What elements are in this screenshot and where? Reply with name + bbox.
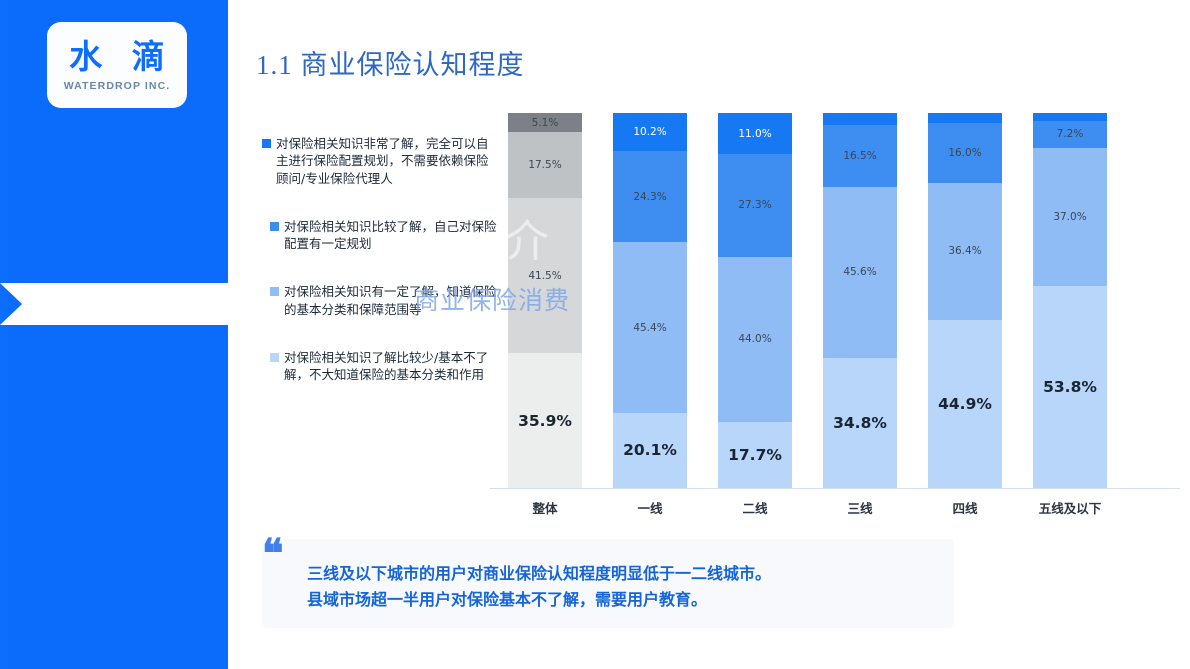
- bar-segment-value: 16.0%: [948, 147, 981, 159]
- bar-segment[interactable]: 16.0%: [928, 123, 1002, 183]
- brand-logo-en: WATERDROP INC.: [64, 80, 171, 92]
- x-axis-tick-label: 四线: [905, 498, 1025, 517]
- bar-segment[interactable]: 24.3%: [613, 151, 687, 242]
- bar-column[interactable]: 2.0%7.2%37.0%53.8%: [1033, 113, 1107, 488]
- bar-segment-value: 16.5%: [843, 150, 876, 162]
- bar-segment[interactable]: 41.5%: [508, 198, 582, 354]
- bar-segment[interactable]: 11.0%: [718, 113, 792, 154]
- bar-segment[interactable]: 34.8%: [823, 358, 897, 489]
- bar-segment-value: 45.6%: [843, 266, 876, 278]
- insight-line-1: 三线及以下城市的用户对商业保险认知程度明显低于一二线城市。: [307, 561, 937, 587]
- bar-segment-value: 10.2%: [633, 126, 666, 138]
- page-title: 1.1 商业保险认知程度: [256, 43, 525, 82]
- bar-segment-value: 35.9%: [518, 412, 572, 430]
- bar-segment[interactable]: 35.9%: [508, 353, 582, 488]
- stacked-bar-chart: 5.1%17.5%41.5%35.9%10.2%24.3%45.4%20.1%1…: [490, 113, 1180, 488]
- bar-segment-value: 44.0%: [738, 333, 771, 345]
- bar-segment-value: 37.0%: [1053, 211, 1086, 223]
- bar-segment-value: 11.0%: [738, 128, 771, 140]
- bar-segment[interactable]: 45.4%: [613, 242, 687, 412]
- bar-segment-value: 5.1%: [532, 117, 559, 129]
- x-axis-tick-label: 整体: [485, 498, 605, 517]
- bar-column[interactable]: 2.7%16.0%36.4%44.9%: [928, 113, 1002, 488]
- bar-segment[interactable]: 7.2%: [1033, 121, 1107, 148]
- bar-segment[interactable]: 10.2%: [613, 113, 687, 151]
- bar-segment-value: 27.3%: [738, 199, 771, 211]
- legend-label-3: 对保险相关知识了解比较少/基本不了解，不大知道保险的基本分类和作用: [284, 349, 500, 384]
- legend-swatch-icon-3: [270, 353, 279, 362]
- bar-column[interactable]: 5.1%17.5%41.5%35.9%: [508, 113, 582, 488]
- bar-column[interactable]: 10.2%24.3%45.4%20.1%: [613, 113, 687, 488]
- bar-segment-value: 17.7%: [728, 446, 782, 464]
- bar-segment-value: 41.5%: [528, 270, 561, 282]
- brand-logo-cn: 水 滴: [60, 40, 174, 73]
- bar-segment[interactable]: 27.3%: [718, 154, 792, 256]
- x-axis-tick-label: 三线: [800, 498, 920, 517]
- bar-segment[interactable]: 17.5%: [508, 132, 582, 198]
- legend-swatch-icon-1: [270, 222, 279, 231]
- x-axis-tick-label: 五线及以下: [1010, 498, 1130, 517]
- insight-text: 三线及以下城市的用户对商业保险认知程度明显低于一二线城市。 县域市场超一半用户对…: [307, 561, 937, 613]
- chart-x-axis: 整体一线二线三线四线五线及以下: [490, 488, 1180, 518]
- bar-segment[interactable]: 20.1%: [613, 413, 687, 488]
- insight-line-2: 县域市场超一半用户对保险基本不了解，需要用户教育。: [307, 587, 937, 613]
- bar-segment[interactable]: 16.5%: [823, 125, 897, 187]
- legend-item-1[interactable]: 对保险相关知识比较了解，自己对保险配置有一定规划: [270, 218, 500, 253]
- legend-item-0[interactable]: 对保险相关知识非常了解，完全可以自主进行保险配置规划，不需要依赖保险顾问/专业保…: [262, 135, 500, 187]
- bar-segment-value: 17.5%: [528, 159, 561, 171]
- bar-segment[interactable]: 37.0%: [1033, 148, 1107, 287]
- bar-segment-value: 36.4%: [948, 245, 981, 257]
- legend-swatch-icon-2: [270, 287, 279, 296]
- legend-label-0: 对保险相关知识非常了解，完全可以自主进行保险配置规划，不需要依赖保险顾问/专业保…: [276, 135, 500, 187]
- bar-segment[interactable]: 45.6%: [823, 187, 897, 358]
- brand-logo: 水 滴 WATERDROP INC.: [47, 22, 187, 108]
- bar-segment-value: 20.1%: [623, 441, 677, 459]
- legend-label-1: 对保险相关知识比较了解，自己对保险配置有一定规划: [284, 218, 500, 253]
- bar-segment[interactable]: 44.9%: [928, 320, 1002, 488]
- bar-column[interactable]: 3.1%16.5%45.6%34.8%: [823, 113, 897, 488]
- bar-segment[interactable]: 5.1%: [508, 113, 582, 132]
- x-axis-tick-label: 二线: [695, 498, 815, 517]
- bar-segment[interactable]: 44.0%: [718, 257, 792, 422]
- left-brand-rail: 水 滴 WATERDROP INC.: [0, 0, 228, 669]
- bar-segment[interactable]: 2.7%: [928, 113, 1002, 123]
- quote-mark-icon: ❝: [262, 534, 284, 574]
- bar-segment[interactable]: 2.0%: [1033, 113, 1107, 121]
- bar-segment-value: 34.8%: [833, 414, 887, 432]
- chart-legend: 对保险相关知识非常了解，完全可以自主进行保险配置规划，不需要依赖保险顾问/专业保…: [262, 135, 500, 414]
- bar-segment-value: 45.4%: [633, 322, 666, 334]
- legend-swatch-icon-0: [262, 139, 271, 148]
- bar-segment[interactable]: 3.1%: [823, 113, 897, 125]
- bar-segment[interactable]: 36.4%: [928, 183, 1002, 320]
- bar-segment-value: 44.9%: [938, 395, 992, 413]
- legend-item-3[interactable]: 对保险相关知识了解比较少/基本不了解，不大知道保险的基本分类和作用: [270, 349, 500, 384]
- chevron-arrow-icon: [0, 283, 258, 325]
- x-axis-tick-label: 一线: [590, 498, 710, 517]
- bar-segment[interactable]: 17.7%: [718, 422, 792, 488]
- bar-segment-value: 24.3%: [633, 191, 666, 203]
- bar-segment-value: 53.8%: [1043, 378, 1097, 396]
- bar-column[interactable]: 11.0%27.3%44.0%17.7%: [718, 113, 792, 488]
- legend-label-2: 对保险相关知识有一定了解，知道保险的基本分类和保障范围等: [284, 283, 500, 318]
- legend-item-2[interactable]: 对保险相关知识有一定了解，知道保险的基本分类和保障范围等: [270, 283, 500, 318]
- bar-segment-value: 7.2%: [1057, 128, 1084, 140]
- bar-segment[interactable]: 53.8%: [1033, 286, 1107, 488]
